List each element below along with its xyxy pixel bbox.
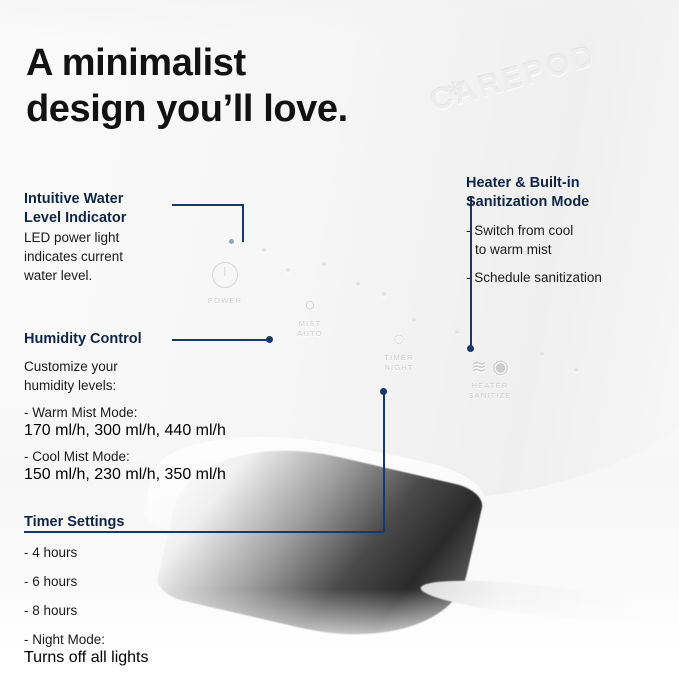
water-level-body-line-1: LED power light (24, 228, 184, 247)
heater-item-1-line-1: - Switch from cool (466, 221, 666, 240)
heater-item-1-line-2: to warm mist (475, 240, 666, 259)
annotation-water-level: Intuitive Water Level Indicator LED powe… (24, 190, 184, 285)
mist-auto-control[interactable]: ○ MIST AUTO (288, 296, 332, 338)
humidity-warm-mode-values: 170 ml/h, 300 ml/h, 440 ml/h (24, 422, 226, 439)
water-drop-icon: ○ (288, 296, 332, 316)
timer-option-8h: - 8 hours (24, 601, 244, 620)
humidity-cool-mode-values: 150 ml/h, 230 ml/h, 350 ml/h (24, 466, 226, 483)
top-shadow (0, 0, 679, 40)
annotation-humidity-control: Humidity Control Customize your humidity… (24, 330, 264, 484)
humidity-warm-mode: - Warm Mist Mode: (24, 403, 264, 422)
mist-label: MIST (288, 319, 332, 328)
annotation-heater-sanitization: Heater & Built-in Sanitization Mode - Sw… (466, 174, 666, 287)
leader-node-timer (380, 388, 387, 395)
leader-node-humidity (266, 336, 273, 343)
page-title: A minimalist design you’ll love. (26, 40, 348, 132)
night-label: NIGHT (376, 363, 422, 372)
power-control[interactable]: POWER (204, 262, 246, 305)
infographic-page: ✻ CAREPOD POWER ○ MIST AUTO ◌ TIMER NIGH… (0, 0, 679, 679)
timer-option-night-mode: - Night Mode: (24, 630, 244, 649)
headline-line-2: design you’ll love. (26, 86, 348, 132)
sanitize-label: SANITIZE (460, 391, 520, 400)
timer-option-6h: - 6 hours (24, 572, 244, 591)
heater-title-line-1: Heater & Built-in (466, 174, 666, 193)
annotation-timer-settings: Timer Settings - 4 hours - 6 hours - 8 h… (24, 513, 244, 667)
leader-line-water-level-vertical (242, 204, 244, 242)
droplet-dot (322, 262, 326, 266)
moon-icon: ◌ (376, 330, 422, 350)
droplet-dot (382, 292, 386, 296)
leader-node-water-level (229, 239, 234, 244)
timer-title: Timer Settings (24, 513, 244, 532)
droplet-dot (455, 330, 459, 334)
power-icon (212, 262, 238, 288)
humidity-cool-mode: - Cool Mist Mode: (24, 447, 264, 466)
humidity-body-line-2: humidity levels: (24, 376, 264, 395)
water-level-title-line-1: Intuitive Water (24, 190, 184, 209)
leader-node-heater (467, 345, 474, 352)
heater-title-line-2: Sanitization Mode (466, 193, 666, 212)
timer-night-mode-note: Turns off all lights (24, 649, 149, 666)
headline-line-1: A minimalist (26, 40, 348, 86)
droplet-dot (286, 268, 290, 272)
leader-line-timer-vertical (383, 392, 385, 532)
water-level-body-line-3: water level. (24, 266, 184, 285)
droplet-dot (540, 352, 544, 356)
humidity-title: Humidity Control (24, 330, 264, 349)
droplet-dot (262, 248, 266, 252)
auto-label: AUTO (288, 329, 332, 338)
timer-label: TIMER (376, 353, 422, 362)
humidity-body-line-1: Customize your (24, 357, 264, 376)
heat-waves-icon: ≋ ◉ (460, 358, 520, 378)
power-label: POWER (204, 296, 246, 305)
droplet-dot (574, 368, 578, 372)
water-level-body-line-2: indicates current (24, 247, 184, 266)
timer-option-4h: - 4 hours (24, 543, 244, 562)
heater-item-2: - Schedule sanitization (466, 268, 666, 287)
heater-sanitize-control[interactable]: ≋ ◉ HEATER SANITIZE (460, 358, 520, 400)
water-level-title-line-2: Level Indicator (24, 209, 184, 228)
droplet-dot (412, 318, 416, 322)
timer-night-control[interactable]: ◌ TIMER NIGHT (376, 330, 422, 372)
heater-label: HEATER (460, 381, 520, 390)
droplet-dot (356, 282, 360, 286)
